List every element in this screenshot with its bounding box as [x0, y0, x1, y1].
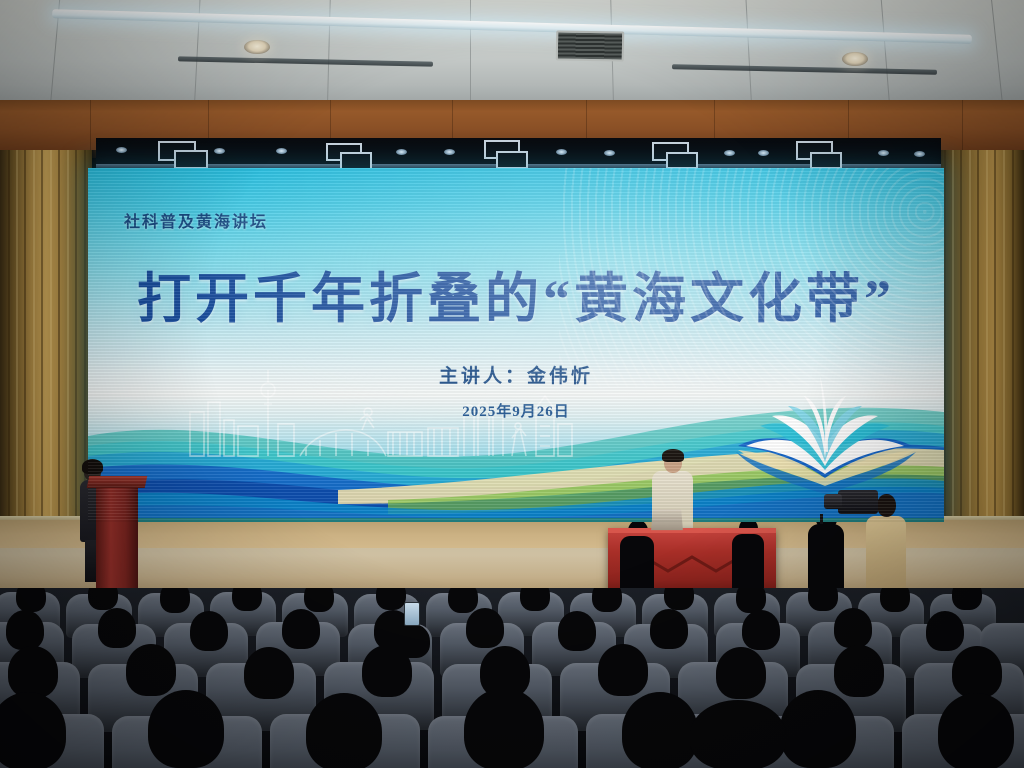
audience-head	[362, 645, 412, 697]
audience-head-foreground	[148, 690, 224, 768]
audience-head	[592, 588, 622, 612]
audience-head-foreground	[690, 700, 786, 768]
audience-head	[232, 588, 262, 611]
audience-head	[6, 610, 44, 650]
slide-kicker: 社科普及黄海讲坛	[124, 208, 268, 232]
audience-head	[304, 588, 334, 612]
slide-title: 打开千年折叠的“黄海文化带”	[88, 254, 944, 333]
audience-head	[190, 611, 228, 651]
slide-date: 2025年9月26日	[88, 400, 944, 421]
audience-head	[664, 588, 694, 610]
stage-spotlight	[666, 152, 698, 169]
led-presentation-screen: 社科普及黄海讲坛 打开千年折叠的“黄海文化带” 主讲人：金伟忻 2025年9月2…	[88, 168, 944, 522]
audience-head-foreground	[780, 690, 856, 768]
audience-head	[952, 646, 1002, 698]
audience-head-foreground	[306, 693, 382, 768]
ceiling-slot-vent-right	[672, 64, 937, 75]
audience-head	[282, 609, 320, 649]
audience-head	[716, 647, 766, 699]
audience-head	[952, 588, 982, 610]
audience-head	[376, 588, 406, 610]
standing-silhouette	[620, 536, 654, 592]
audience-head	[650, 609, 688, 649]
audience-head	[880, 588, 910, 612]
audience-head	[16, 588, 46, 612]
open-book-icon	[730, 374, 920, 504]
audience-head	[98, 608, 136, 648]
raised-phone-screen	[404, 602, 420, 626]
standing-silhouette	[808, 524, 844, 592]
audience-head	[466, 608, 504, 648]
audience-head	[742, 610, 780, 650]
ceiling-air-vent	[556, 30, 625, 61]
stage-spotlight	[174, 150, 208, 169]
audience-head	[244, 647, 294, 699]
audience-head	[126, 644, 176, 696]
audience-head	[160, 588, 190, 613]
ceiling-downlight-right	[842, 52, 868, 66]
audience-head	[88, 588, 118, 610]
podium-top	[87, 476, 148, 488]
audience-head	[834, 608, 872, 648]
ceiling	[0, 0, 1024, 108]
stage-spotlight	[810, 152, 842, 169]
audience-head-foreground	[622, 692, 698, 768]
audience-head	[520, 588, 550, 611]
audience-head	[808, 588, 838, 611]
lighting-truss	[96, 138, 941, 170]
audience-head	[8, 646, 58, 698]
laptop-on-table	[651, 509, 683, 530]
audience-head	[926, 611, 964, 651]
audience-head-foreground	[938, 693, 1014, 768]
stage-spotlight	[496, 151, 528, 169]
video-camera	[838, 490, 878, 514]
ceiling-downlight-left	[244, 40, 270, 54]
ceiling-slot-vent-left	[178, 56, 433, 66]
slide-speaker: 主讲人：金伟忻	[88, 361, 944, 388]
auditorium-photo: 社科普及黄海讲坛 打开千年折叠的“黄海文化带” 主讲人：金伟忻 2025年9月2…	[0, 0, 1024, 768]
audience-head-foreground	[464, 688, 544, 768]
audience-seating-area	[0, 588, 1024, 768]
audience-head	[598, 644, 648, 696]
ceiling-light-strip	[52, 9, 972, 44]
audience-head	[448, 588, 478, 613]
podium	[96, 482, 138, 588]
standing-silhouette	[732, 534, 764, 592]
audience-head	[558, 611, 596, 651]
audience-head	[834, 645, 884, 697]
